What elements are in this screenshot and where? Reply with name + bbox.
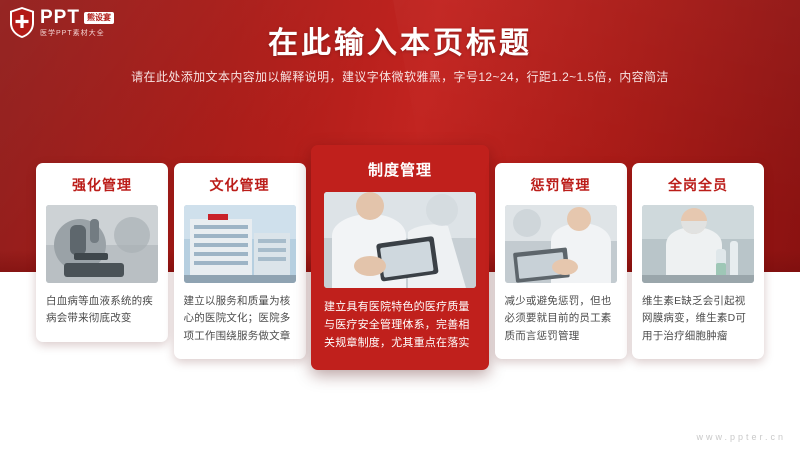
card-item-featured[interactable]: 制度管理 建立具有医院特色的医疗质量与医疗安全管理体系，完善相关规章制度，尤其重… bbox=[311, 145, 489, 370]
doctor-laptop-photo bbox=[505, 205, 617, 283]
logo-main: PPT 熊设宴 bbox=[40, 8, 114, 27]
page-subtitle: 请在此处添加文本内容加以解释说明，建议字体微软雅黑，字号12~24，行距1.2~… bbox=[0, 68, 800, 85]
logo[interactable]: PPT 熊设宴 医学PPT素材大全 bbox=[8, 6, 114, 39]
card-title: 全岗全员 bbox=[642, 175, 754, 195]
slide: PPT 熊设宴 医学PPT素材大全 在此输入本页标题 请在此处添加文本内容加以解… bbox=[0, 0, 800, 450]
watermark: www.ppter.cn bbox=[696, 432, 786, 442]
card-title: 强化管理 bbox=[46, 175, 158, 195]
card-text: 减少或避免惩罚，但也必须要就目前的员工素质而言惩罚管理 bbox=[505, 293, 617, 345]
card-title: 惩罚管理 bbox=[505, 175, 617, 195]
card-text: 建立具有医院特色的医疗质量与医疗安全管理体系，完善相关规章制度，尤其重点在落实 bbox=[324, 298, 476, 352]
logo-tagline: 医学PPT素材大全 bbox=[40, 30, 114, 37]
card-item[interactable]: 强化管理 白血病等血液系统的疾病会带来彻底改变 bbox=[36, 163, 168, 342]
doctor-tablet-photo bbox=[324, 192, 476, 288]
card-title: 制度管理 bbox=[324, 159, 476, 180]
lab-researcher-photo bbox=[642, 205, 754, 283]
card-item[interactable]: 全岗全员 维生素E缺乏会引起视网膜病变，维生素D可用于治疗细胞肿瘤 bbox=[632, 163, 764, 359]
card-item[interactable]: 文化管理 bbox=[174, 163, 306, 359]
card-list: 强化管理 白血病等血液系统的疾病会带来彻底改变 文化管理 bbox=[36, 145, 764, 370]
logo-text: PPT 熊设宴 医学PPT素材大全 bbox=[40, 8, 114, 37]
card-text: 维生素E缺乏会引起视网膜病变，维生素D可用于治疗细胞肿瘤 bbox=[642, 293, 754, 345]
logo-brand: PPT bbox=[40, 8, 80, 27]
hospital-building-photo bbox=[184, 205, 296, 283]
card-item[interactable]: 惩罚管理 减少或避免惩罚，但也必须要就目前的员工素质而言惩罚管理 bbox=[495, 163, 627, 359]
microscope-photo bbox=[46, 205, 158, 283]
card-title: 文化管理 bbox=[184, 175, 296, 195]
shield-icon bbox=[8, 6, 36, 39]
page-title: 在此输入本页标题 bbox=[0, 18, 800, 62]
card-text: 建立以服务和质量为核心的医院文化；医院多项工作围绕服务做文章 bbox=[184, 293, 296, 345]
logo-badge: 熊设宴 bbox=[84, 12, 114, 24]
card-text: 白血病等血液系统的疾病会带来彻底改变 bbox=[46, 293, 158, 328]
